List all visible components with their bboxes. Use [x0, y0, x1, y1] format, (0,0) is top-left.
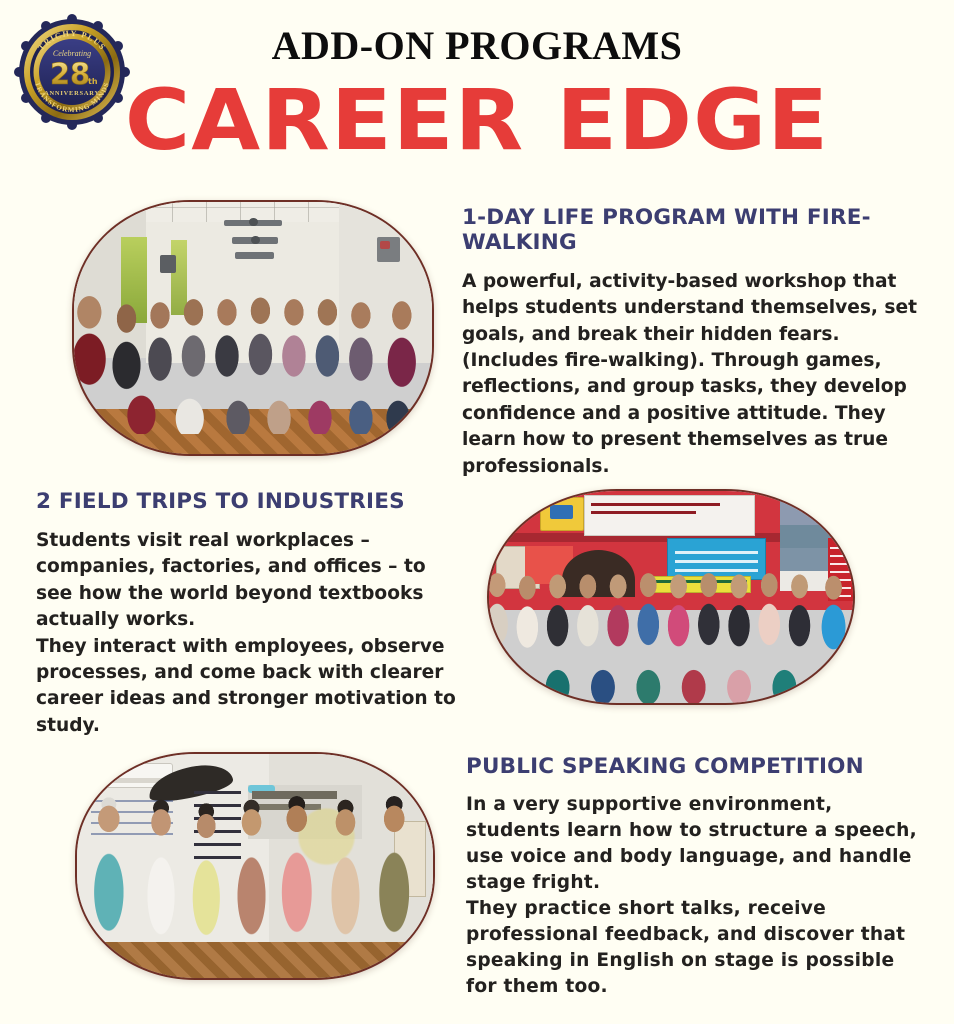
- section-field-trips-body: Students visit real workplaces – compani…: [36, 528, 462, 739]
- wall-speaker-right: [377, 237, 400, 262]
- section-public-speaking-body: In a very supportive environment, studen…: [466, 792, 918, 1000]
- section-life-program-heading: 1-DAY LIFE PROGRAM WITH FIRE-WALKING: [462, 206, 918, 256]
- section-life-program-body: A powerful, activity-based workshop that…: [462, 269, 918, 480]
- poster-title: CAREER EDGE: [0, 78, 954, 162]
- photo-field-trips-scene: [489, 491, 853, 703]
- section-field-trips-heading: 2 FIELD TRIPS TO INDUSTRIES: [36, 490, 462, 515]
- photo-public-speaking-scene: [77, 754, 433, 978]
- participant-group: [81, 792, 430, 971]
- photo-life-program-scene: [74, 202, 432, 454]
- photo-field-trips: [487, 489, 855, 705]
- yellow-logo-sign: [540, 497, 584, 531]
- ceiling-fan-hub-2: [251, 236, 260, 244]
- wall-speaker-left: [160, 255, 176, 273]
- white-info-banner: [584, 495, 755, 535]
- photo-life-program: [72, 200, 434, 456]
- student-group: [72, 278, 434, 434]
- section-life-program: 1-DAY LIFE PROGRAM WITH FIRE-WALKING A p…: [462, 206, 918, 480]
- student-group: [487, 572, 855, 703]
- section-public-speaking: PUBLIC SPEAKING COMPETITION In a very su…: [466, 755, 918, 1000]
- ceiling-fan-3: [235, 252, 274, 258]
- section-public-speaking-heading: PUBLIC SPEAKING COMPETITION: [466, 755, 918, 780]
- section-field-trips: 2 FIELD TRIPS TO INDUSTRIES Students vis…: [36, 490, 462, 739]
- photo-public-speaking: [75, 752, 435, 980]
- poster-canvas: TRICHY PLUS TRANSFORMING MINDS Celebrati…: [0, 0, 954, 1024]
- poster-kicker: ADD-ON PROGRAMS: [0, 26, 954, 66]
